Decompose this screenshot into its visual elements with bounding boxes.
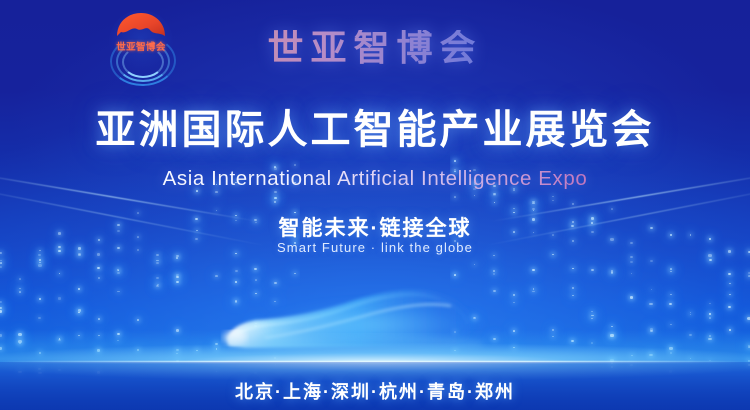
- particle-dot: [156, 262, 159, 264]
- particle-dot: [552, 196, 554, 197]
- particle-dot: [254, 268, 257, 270]
- particle-dot: [156, 277, 159, 279]
- particle-dot: [572, 295, 574, 296]
- particle-dot: [669, 303, 672, 305]
- particle-dot: [670, 324, 672, 325]
- particle-dot: [176, 257, 178, 258]
- particle-dot: [729, 283, 731, 284]
- particle-dot: [552, 200, 554, 201]
- particle-dot: [0, 260, 2, 262]
- particle-dot: [709, 317, 711, 319]
- headline-english: Asia International Artificial Intelligen…: [0, 167, 750, 191]
- particle-dot: [19, 288, 21, 290]
- expo-poster: 世亚智博会 世亚智博会 亚洲国际人工智能产业展览会 Asia Internati…: [0, 0, 750, 410]
- particle-dot: [0, 262, 2, 264]
- particle-dot: [156, 285, 158, 287]
- particle-dot: [611, 326, 613, 327]
- particle-dot: [176, 281, 179, 283]
- particle-dot: [709, 303, 711, 304]
- particle-dot: [454, 196, 456, 198]
- particle-dot: [38, 264, 42, 267]
- particle-dot: [532, 202, 535, 204]
- particle-dot: [611, 208, 613, 210]
- particle-dot: [58, 297, 62, 300]
- particle-dot: [630, 261, 633, 263]
- particle-dot: [572, 287, 574, 289]
- slogan-english: Smart Future · link the globe: [0, 240, 750, 255]
- particle-dot: [591, 318, 593, 320]
- particle-dot: [630, 256, 633, 258]
- particle-dot: [0, 307, 2, 309]
- particle-dot: [631, 273, 633, 274]
- particle-dot: [690, 312, 692, 313]
- particle-dot: [494, 202, 495, 203]
- particle-dot: [670, 294, 672, 295]
- particle-dot: [0, 310, 2, 312]
- particle-dot: [176, 276, 179, 278]
- particle-dot: [454, 160, 457, 162]
- headline-chinese: 亚洲国际人工智能产业展览会: [0, 108, 750, 152]
- particle-dot: [294, 164, 297, 166]
- particle-dot: [274, 191, 276, 193]
- particle-dot: [650, 260, 653, 262]
- particle-dot: [137, 319, 139, 320]
- particle-dot: [117, 291, 119, 293]
- particle-dot: [98, 318, 100, 320]
- particle-dot: [611, 270, 614, 272]
- particle-dot: [670, 271, 672, 272]
- particle-dot: [39, 262, 41, 264]
- slogan-chinese: 智能未来·链接全球: [0, 212, 750, 242]
- particle-dot: [118, 270, 120, 271]
- particle-dot: [38, 317, 41, 319]
- particle-dot: [670, 268, 673, 270]
- particle-dot: [513, 208, 515, 209]
- particle-dot: [591, 315, 593, 317]
- particle-dot: [591, 269, 594, 271]
- particle-dot: [0, 266, 2, 268]
- particle-dot: [474, 195, 475, 196]
- particle-dot: [630, 296, 633, 299]
- particle-dot: [493, 193, 496, 195]
- particle-dot: [651, 289, 652, 290]
- city-list: 北京·上海·深圳·杭州·青岛·郑州: [0, 378, 750, 404]
- particle-dot: [78, 288, 80, 290]
- particle-dot: [97, 267, 100, 269]
- particle-dot: [39, 259, 41, 260]
- particle-dot: [59, 273, 61, 274]
- particle-dot: [474, 264, 475, 265]
- particle-dot: [274, 201, 276, 202]
- particle-dot: [215, 191, 217, 193]
- particle-dot: [117, 272, 120, 274]
- particle-dot: [591, 311, 593, 313]
- particle-dot: [532, 269, 534, 271]
- particle-dot: [19, 291, 22, 293]
- particle-dot: [532, 208, 535, 210]
- particle-dot: [572, 268, 574, 269]
- particle-dot: [19, 278, 21, 280]
- particle-dot: [709, 259, 712, 261]
- particle-dot: [572, 203, 574, 205]
- particle-dot: [649, 303, 653, 306]
- particle-dot: [709, 313, 711, 315]
- particle-dot: [274, 197, 276, 199]
- particle-dot: [78, 312, 80, 313]
- brand-title: 世亚智博会: [0, 30, 750, 66]
- particle-dot: [98, 277, 100, 279]
- particle-dot: [0, 301, 2, 304]
- particle-dot: [39, 298, 41, 300]
- particle-dot: [728, 273, 731, 275]
- particle-dot: [729, 294, 731, 295]
- particle-dot: [690, 314, 692, 315]
- particle-dot: [728, 306, 731, 308]
